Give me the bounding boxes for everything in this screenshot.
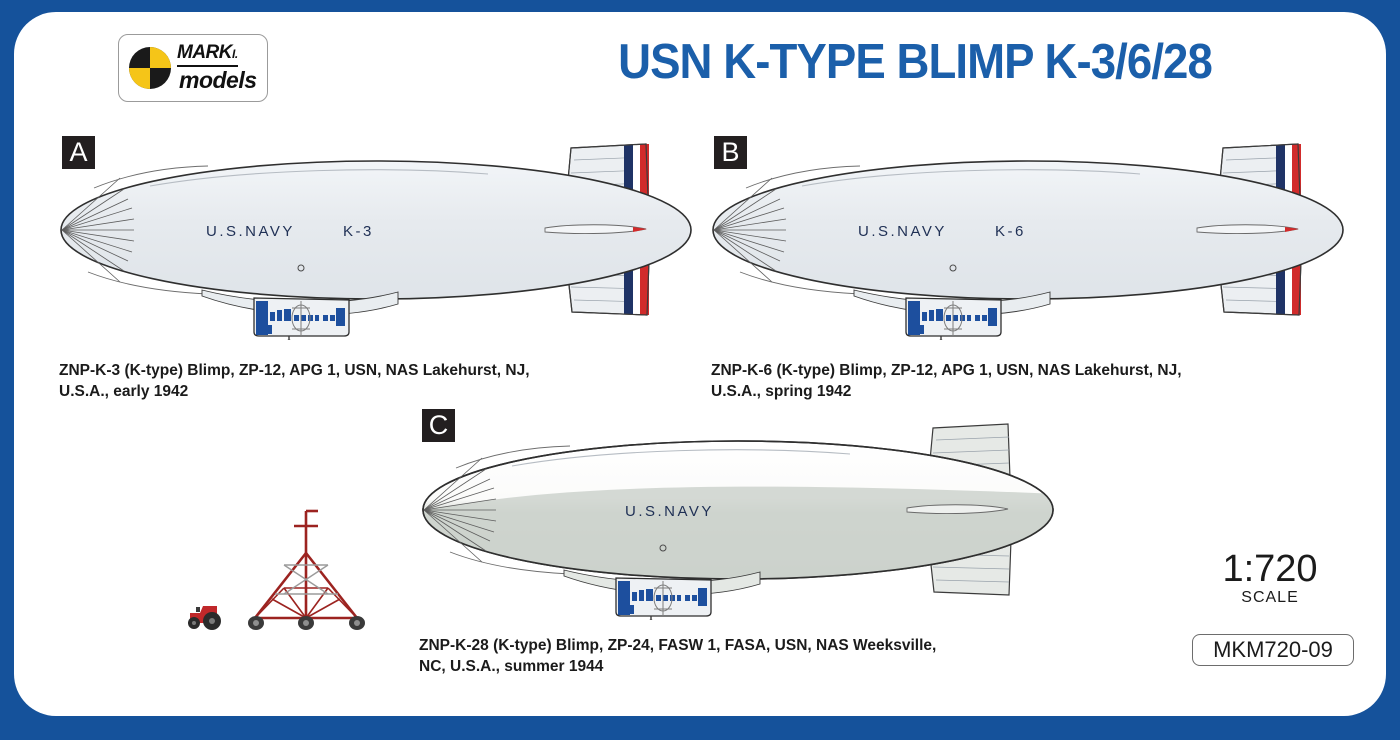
blimp-profile-a: U.S.NAVY K-3 — [58, 140, 698, 340]
blimp-profile-b: U.S.NAVY K-6 — [710, 140, 1350, 340]
caption-b: ZNP-K-6 (K-type) Blimp, ZP-12, APG 1, US… — [711, 360, 1341, 402]
envelope-marking-navy-a: U.S.NAVY — [206, 223, 295, 240]
brand-mark-suffix: I. — [232, 47, 238, 61]
caption-a: ZNP-K-3 (K-type) Blimp, ZP-12, APG 1, US… — [59, 360, 679, 402]
envelope-marking-code-b: K-6 — [995, 223, 1026, 240]
blimp-profile-c: U.S.NAVY — [420, 420, 1060, 620]
envelope-marking-code-a: K-3 — [343, 223, 374, 240]
brand-name-bottom: models — [179, 68, 257, 92]
envelope-marking-navy-b: U.S.NAVY — [858, 223, 947, 240]
caption-c: ZNP-K-28 (K-type) Blimp, ZP-24, FASW 1, … — [419, 635, 1099, 677]
scale-ratio: 1:720 — [1180, 548, 1360, 591]
envelope-marking-navy-c: U.S.NAVY — [625, 503, 714, 520]
box-art-page: MARKI. models USN K-TYPE BLIMP K-3/6/28 … — [0, 0, 1400, 740]
ground-equipment — [160, 495, 390, 635]
tractor — [188, 606, 221, 630]
brand-name-top: MARKI. — [177, 43, 238, 67]
brand-mark-text: MARK — [177, 42, 232, 63]
scale-label: SCALE — [1180, 589, 1360, 607]
quartered-disc-icon — [129, 47, 171, 89]
kit-number-badge: MKM720-09 — [1192, 634, 1354, 666]
brand-logo: MARKI. models — [118, 34, 268, 102]
page-title: USN K-TYPE BLIMP K-3/6/28 — [529, 34, 1301, 90]
